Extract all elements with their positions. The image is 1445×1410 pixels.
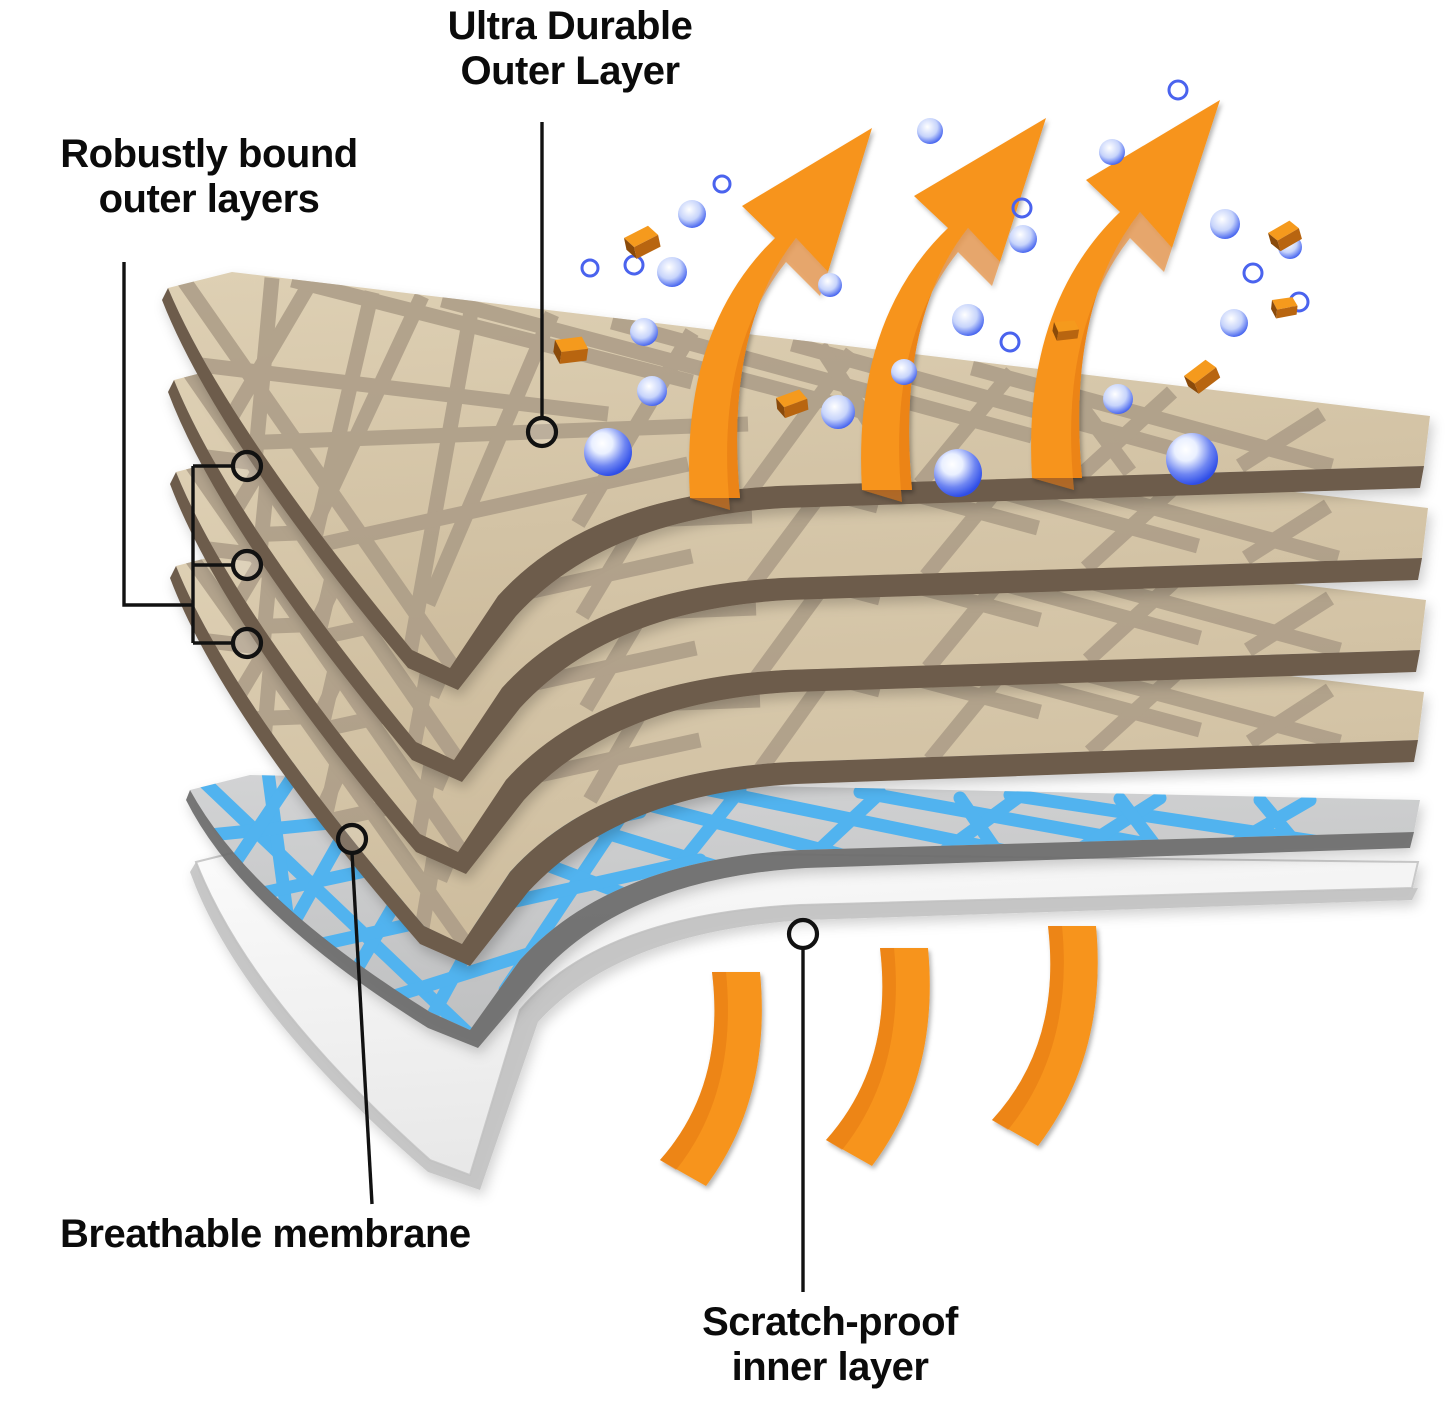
- callout-dot-scratch-proof: [789, 920, 817, 948]
- diagram-canvas: Ultra Durable Outer Layer Robustly bound…: [0, 0, 1445, 1410]
- callout-dot-robust-bound-1: [233, 452, 261, 480]
- label-ultra-durable-outer-layer: Ultra Durable Outer Layer: [400, 4, 740, 94]
- callout-dot-outer-layer: [528, 418, 556, 446]
- label-scratch-proof-inner-layer: Scratch-proof inner layer: [600, 1300, 1060, 1390]
- callout-dot-robust-bound-3: [233, 629, 261, 657]
- label-robustly-bound-outer-layers: Robustly bound outer layers: [4, 132, 414, 222]
- callout-dot-breathable-membrane: [338, 825, 366, 853]
- incoming-arrows: [660, 926, 1098, 1186]
- callout-dot-robust-bound-2: [233, 551, 261, 579]
- label-breathable-membrane: Breathable membrane: [60, 1212, 660, 1257]
